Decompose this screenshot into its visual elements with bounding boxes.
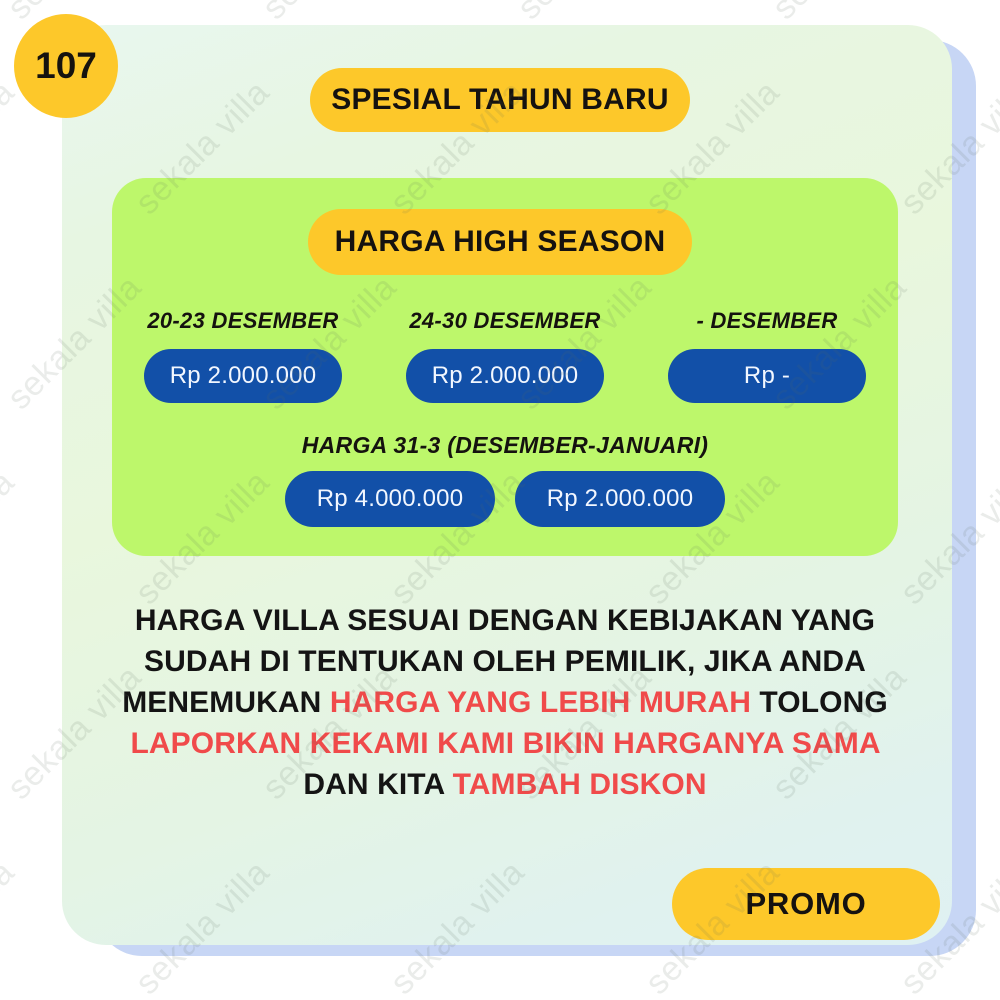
- watermark-text: sekala villa: [510, 0, 659, 28]
- high-season-header-label: HARGA HIGH SEASON: [335, 225, 666, 259]
- price-pill-row: Rp 2.000.000 Rp 2.000.000 Rp -: [112, 348, 898, 404]
- date-label: 20-23 DESEMBER: [112, 305, 374, 337]
- price-pill: Rp 4.000.000: [285, 471, 495, 527]
- price-cell: Rp 2.000.000: [112, 348, 374, 404]
- price-pill: Rp 2.000.000: [144, 349, 342, 403]
- price-cell: Rp -: [636, 348, 898, 404]
- watermark-text: sekala villa: [255, 0, 404, 28]
- watermark-text: sekala villa: [0, 463, 22, 612]
- notice-highlight-3: TAMBAH DISKON: [453, 768, 707, 801]
- watermark-text: sekala villa: [0, 853, 22, 1000]
- promo-button-label: PROMO: [745, 886, 866, 922]
- price-cell: Rp 2.000.000: [374, 348, 636, 404]
- high-season-header: HARGA HIGH SEASON: [308, 209, 692, 275]
- date-label: 24-30 DESEMBER: [374, 305, 636, 337]
- notice-highlight-1: HARGA YANG LEBIH MURAH: [330, 686, 751, 719]
- watermark-text: sekala villa: [765, 0, 914, 28]
- number-badge: 107: [14, 14, 118, 118]
- new-year-subheader: HARGA 31-3 (DESEMBER-JANUARI): [112, 432, 898, 459]
- notice-part-3: DAN KITA: [303, 768, 452, 801]
- number-badge-label: 107: [35, 45, 97, 87]
- price-pill: Rp -: [668, 349, 866, 403]
- notice-text: HARGA VILLA SESUAI DENGAN KEBIJAKAN YANG…: [112, 600, 898, 805]
- price-pill: Rp 2.000.000: [515, 471, 725, 527]
- promo-button[interactable]: PROMO: [672, 868, 940, 940]
- promo-graphic: 107 SPESIAL TAHUN BARU HARGA HIGH SEASON…: [0, 0, 1000, 1000]
- title-banner: SPESIAL TAHUN BARU: [310, 68, 690, 132]
- new-year-price-row: Rp 4.000.000 Rp 2.000.000: [112, 470, 898, 528]
- date-label: - DESEMBER: [636, 305, 898, 337]
- price-pill: Rp 2.000.000: [406, 349, 604, 403]
- date-label-row: 20-23 DESEMBER 24-30 DESEMBER - DESEMBER: [112, 305, 898, 337]
- title-banner-label: SPESIAL TAHUN BARU: [331, 83, 669, 117]
- notice-part-2: TOLONG: [751, 686, 888, 719]
- notice-highlight-2: LAPORKAN KEKAMI KAMI BIKIN HARGANYA SAMA: [130, 727, 879, 760]
- watermark-text: sekala villa: [0, 73, 22, 222]
